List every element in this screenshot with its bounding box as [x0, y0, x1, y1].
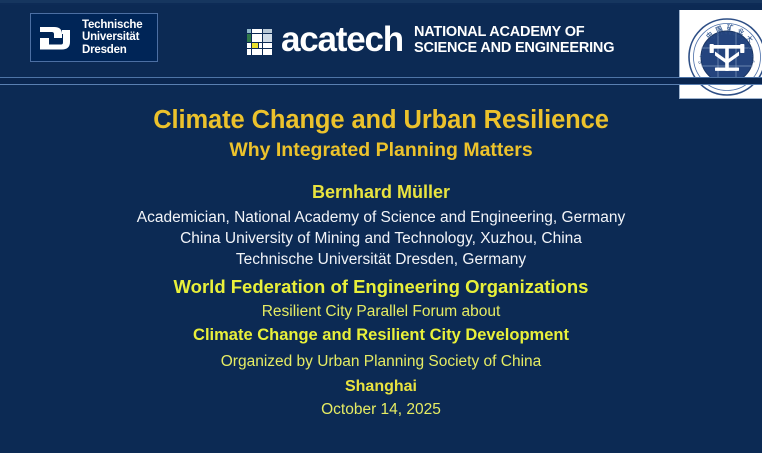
forum-topic: Climate Change and Resilient City Develo… [0, 326, 762, 345]
author-name: Bernhard Müller [0, 182, 762, 203]
acatech-mosaic-icon [247, 26, 277, 56]
tu-dresden-logo: Technische Universität Dresden [30, 13, 158, 62]
cumt-seal-icon: 1909 C H I N A U N I V E R S I [687, 17, 762, 97]
forum-name: Resilient City Parallel Forum about [0, 303, 762, 321]
header-divider-bottom [0, 84, 762, 85]
tud-line-3: Dresden [82, 44, 142, 56]
acatech-subtitle-line-2: SCIENCE AND ENGINEERING [414, 40, 614, 57]
tud-line-1: Technische [82, 19, 142, 31]
page-subtitle: Why Integrated Planning Matters [0, 139, 762, 162]
presentation-title-slide: Technische Universität Dresden [0, 0, 762, 453]
event-organizer: Organized by Urban Planning Society of C… [0, 353, 762, 371]
slide-header-logos: Technische Universität Dresden [0, 0, 762, 77]
host-organization: World Federation of Engineering Organiza… [0, 276, 762, 298]
cumt-logo-panel: 1909 C H I N A U N I V E R S I [679, 10, 762, 99]
tud-line-2: Universität [82, 31, 142, 43]
svg-text:矿: 矿 [727, 23, 734, 32]
tu-dresden-mark-icon [37, 21, 77, 55]
acatech-logo: acatech NATIONAL ACADEMY OF SCIENCE AND … [247, 18, 614, 62]
page-title: Climate Change and Urban Resilience [0, 106, 762, 135]
event-city: Shanghai [0, 378, 762, 396]
acatech-wordmark: acatech [281, 22, 403, 58]
acatech-subtitle-line-1: NATIONAL ACADEMY OF [414, 24, 614, 41]
affiliation-line: Technische Universität Dresden, Germany [0, 251, 762, 269]
affiliation-line: China University of Mining and Technolog… [0, 230, 762, 248]
affiliation-line: Academician, National Academy of Science… [0, 209, 762, 227]
acatech-subtitle: NATIONAL ACADEMY OF SCIENCE AND ENGINEER… [414, 24, 614, 57]
event-date: October 14, 2025 [0, 401, 762, 419]
tu-dresden-wordmark: Technische Universität Dresden [82, 19, 142, 56]
